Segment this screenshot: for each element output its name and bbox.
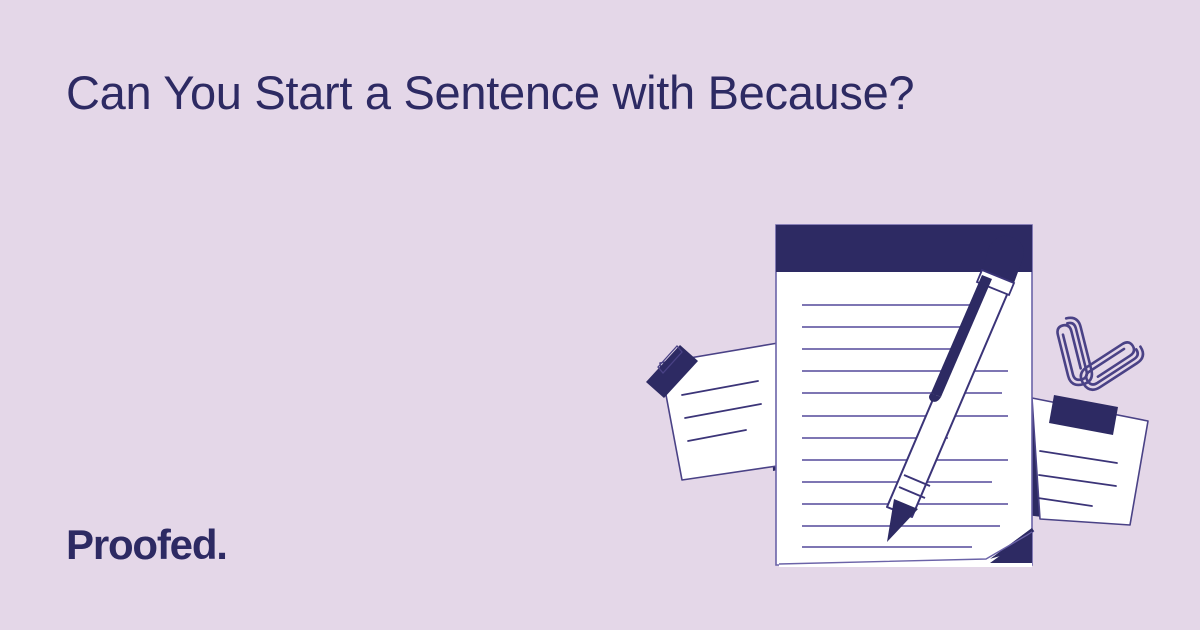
paperclip-right (1077, 337, 1147, 394)
right-note-paper (1022, 395, 1148, 525)
hero-illustration (630, 195, 1190, 595)
paperclip-left (1055, 315, 1095, 387)
left-note-paper (646, 343, 793, 480)
page-title: Can You Start a Sentence with Because? (66, 68, 1066, 117)
social-card-canvas: Can You Start a Sentence with Because? P… (0, 0, 1200, 630)
brand-logo: Proofed. (66, 524, 227, 566)
